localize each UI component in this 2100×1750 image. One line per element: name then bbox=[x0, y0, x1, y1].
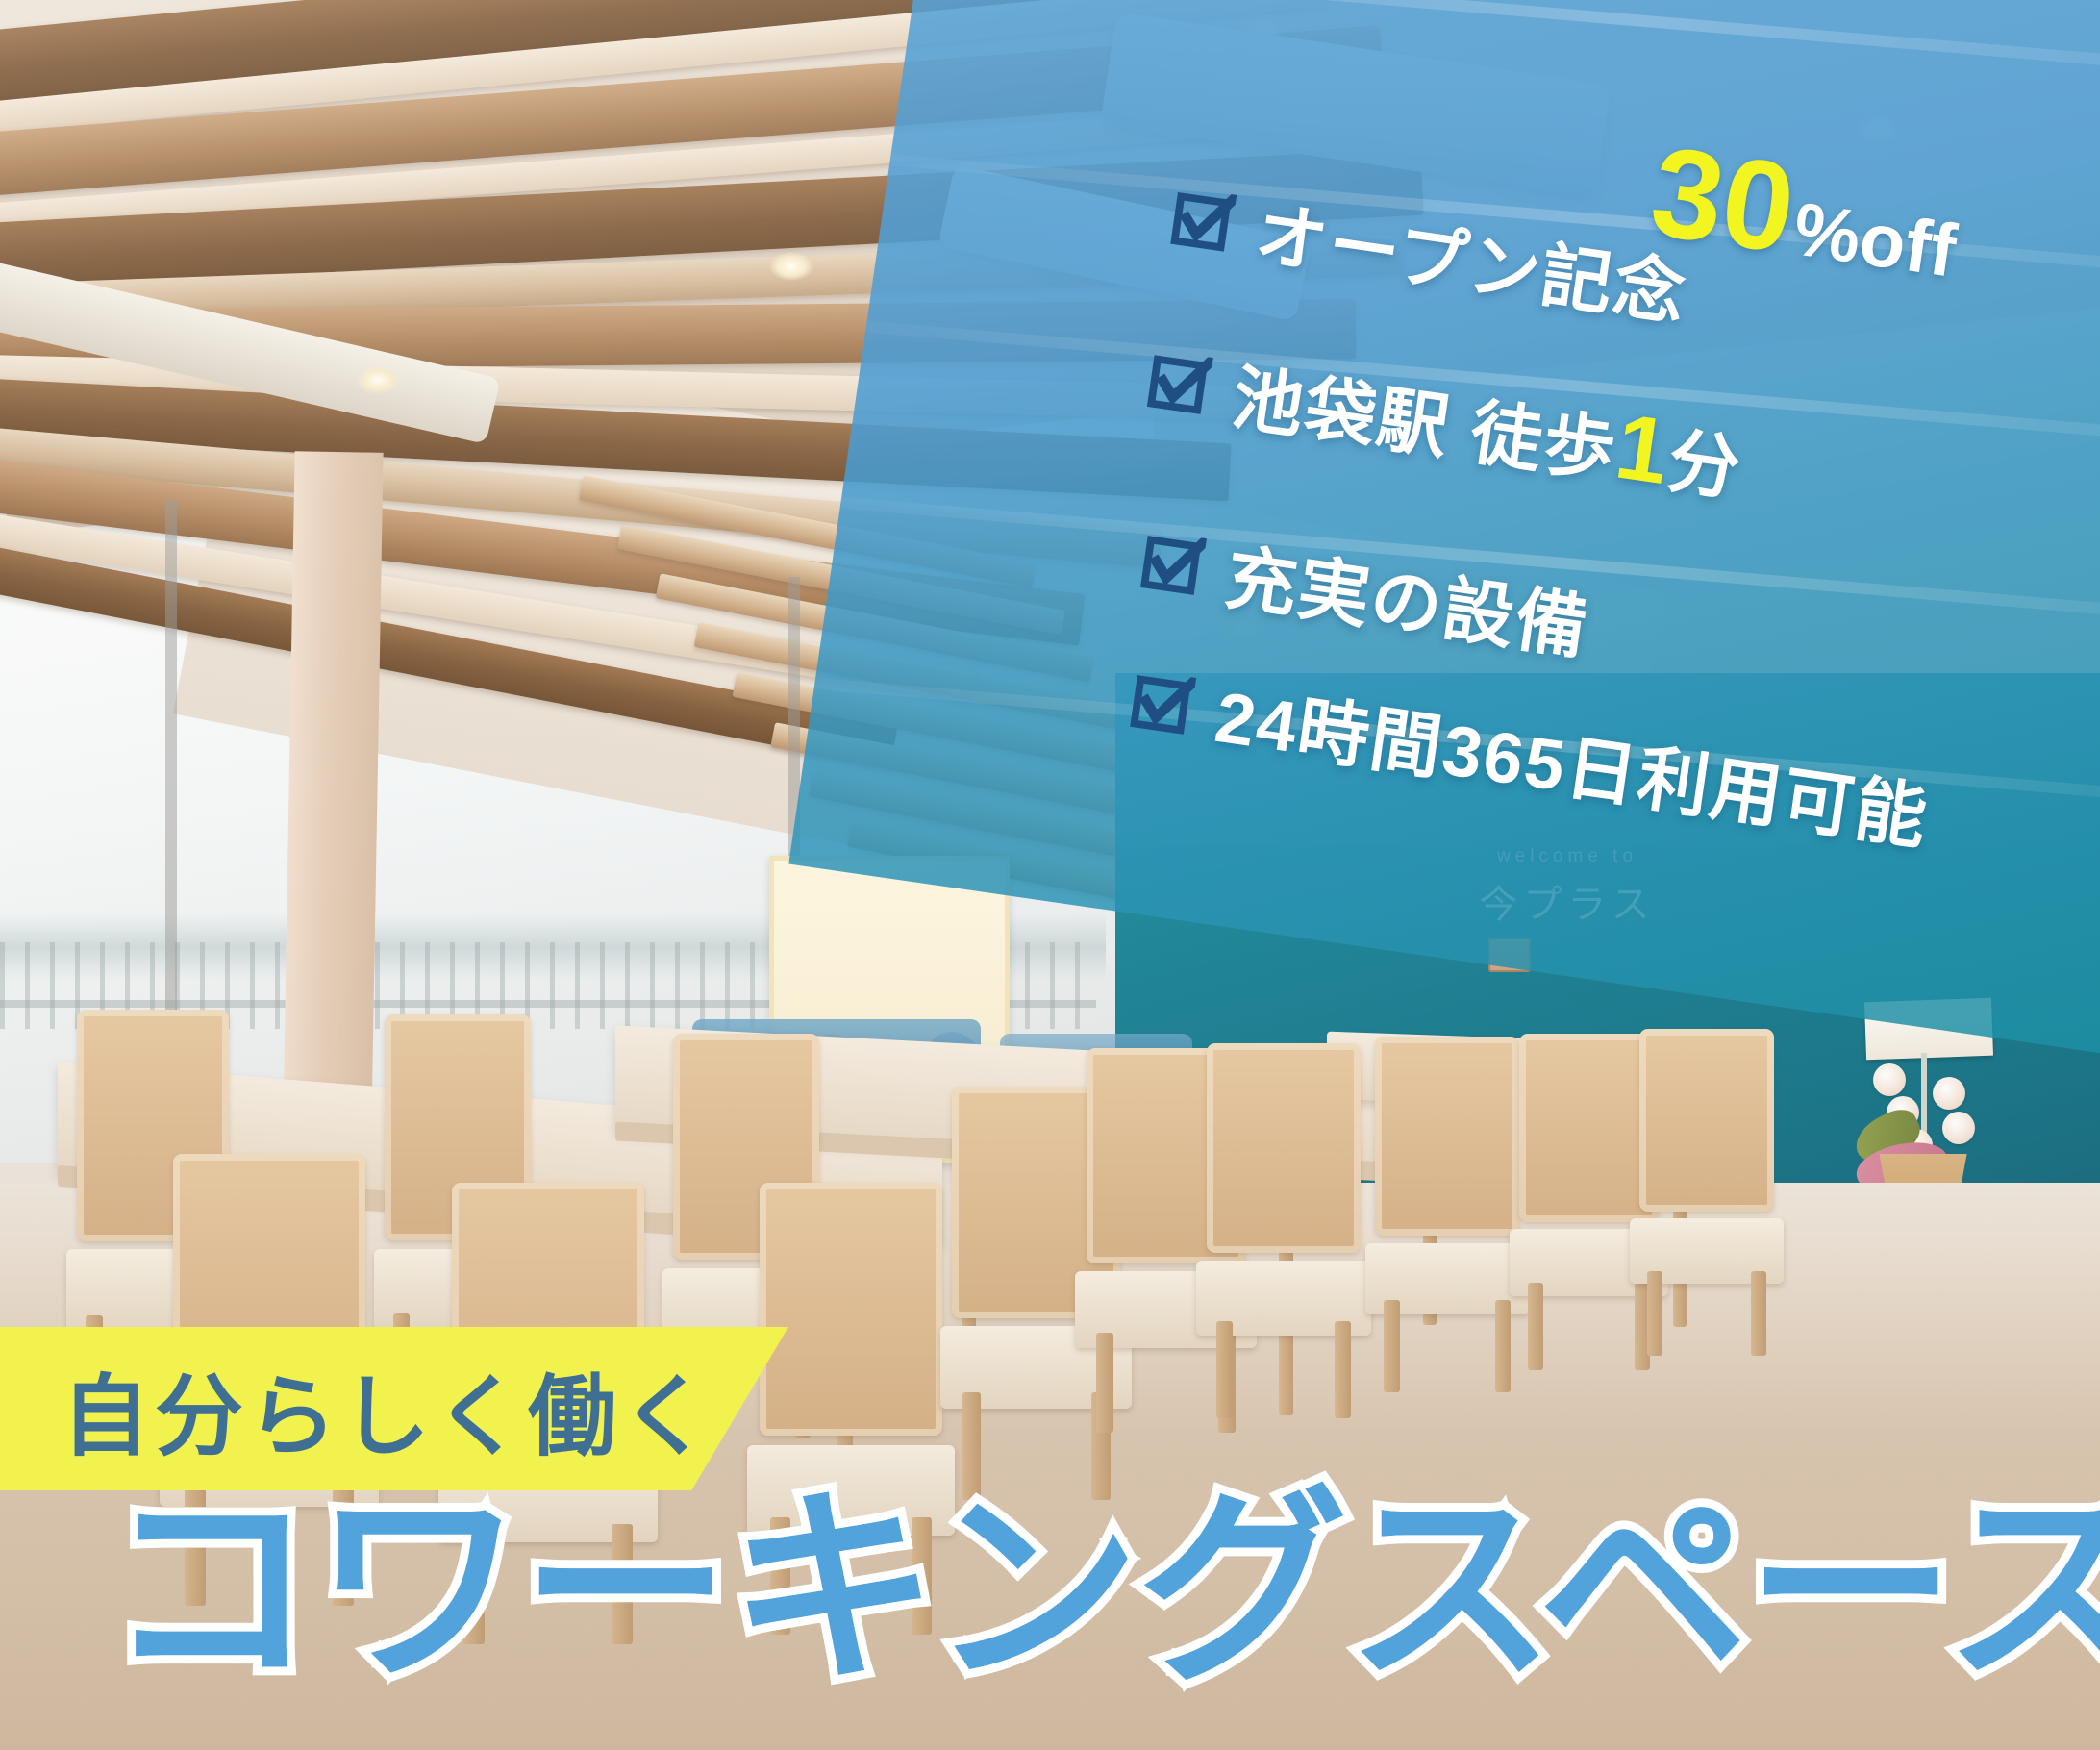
orchid-bloom bbox=[1942, 1112, 1975, 1144]
ceiling-spotlight bbox=[769, 252, 813, 281]
promo-bullet-4-label: 24時間365日利用可能 bbox=[1210, 660, 1936, 864]
structural-pillar bbox=[282, 451, 383, 1183]
tagline-banner: 自分らしく働く bbox=[0, 1327, 788, 1490]
checkbox-checked-icon bbox=[1169, 187, 1237, 254]
promo-bullet-1: オープン記念 bbox=[1166, 164, 1694, 340]
tagline-text: 自分らしく働く bbox=[62, 1345, 714, 1473]
poster-canvas: welcome to 今プラス bbox=[0, 0, 2100, 1750]
wooden-chair bbox=[1375, 1037, 1519, 1392]
orchid-bloom bbox=[1933, 1077, 1965, 1110]
wooden-chair bbox=[1519, 1034, 1659, 1370]
promo-bullet-4: 24時間365日利用可能 bbox=[1126, 647, 1936, 863]
checkbox-checked-icon bbox=[1146, 349, 1213, 416]
promo-bullet-3: 充実の設備 bbox=[1137, 508, 1596, 674]
promo-bullet-2: 池袋駅 徒歩1分 bbox=[1142, 327, 1749, 517]
main-title: コワーキングスペース bbox=[106, 1486, 2100, 1695]
orchid-bloom bbox=[1873, 1063, 1906, 1096]
discount-headline: 30 %off bbox=[1644, 127, 1966, 296]
wooden-chair bbox=[1639, 1029, 1774, 1356]
promo-bullet-2-label: 池袋駅 徒歩1分 bbox=[1226, 338, 1749, 516]
wooden-chair bbox=[1207, 1043, 1361, 1418]
checkbox-checked-icon bbox=[1139, 530, 1207, 597]
discount-unit: %off bbox=[1789, 190, 1961, 287]
checkbox-checked-icon bbox=[1129, 669, 1196, 737]
promo-bullet-1-label: オープン記念 bbox=[1250, 177, 1694, 340]
promo-bullet-3-label: 充実の設備 bbox=[1220, 520, 1596, 674]
ceiling-spotlight bbox=[356, 365, 400, 394]
